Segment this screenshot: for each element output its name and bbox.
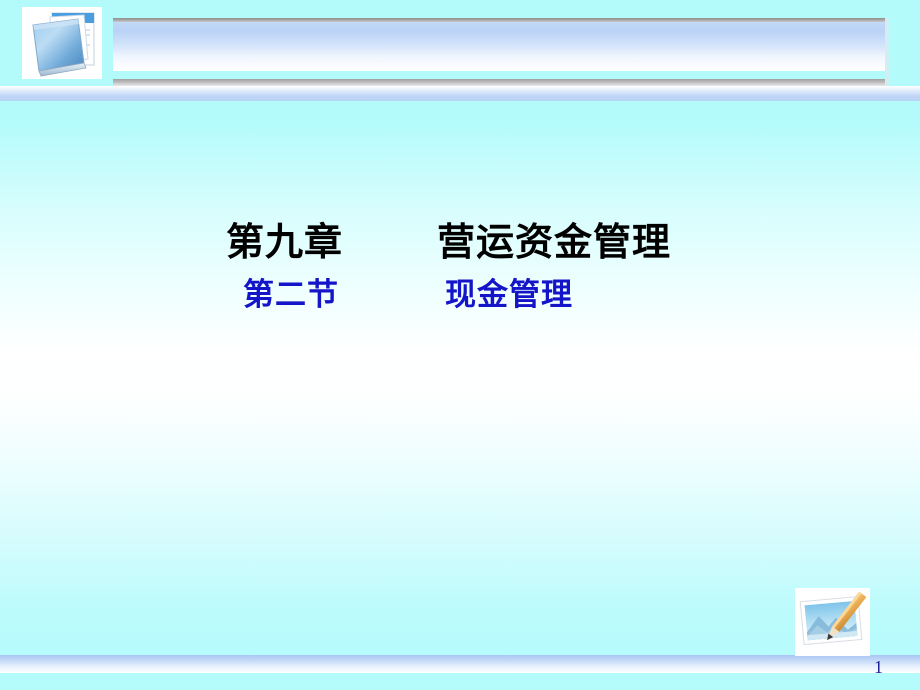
section-label: 第二节: [243, 277, 339, 312]
section-title-line: 第二节现金管理: [0, 271, 920, 319]
section-name: 现金管理: [445, 277, 573, 312]
footer-strip: [0, 655, 920, 673]
book-document-icon: [22, 7, 102, 79]
chapter-title-line: 第九章营运资金管理: [0, 215, 920, 271]
photo-pencil-icon: [795, 588, 870, 656]
banner-gradient: [113, 22, 885, 71]
header-banner: [113, 18, 885, 71]
presentation-slide: 第九章营运资金管理 第二节现金管理: [0, 0, 920, 690]
chapter-label: 第九章: [226, 222, 343, 264]
slide-number: 1: [874, 656, 883, 678]
banner-right-cap: [885, 18, 889, 86]
chapter-name: 营运资金管理: [437, 222, 671, 264]
header-divider-strip: [0, 86, 920, 101]
title-block: 第九章营运资金管理 第二节现金管理: [0, 215, 920, 319]
banner-bottom-rule: [113, 79, 885, 86]
